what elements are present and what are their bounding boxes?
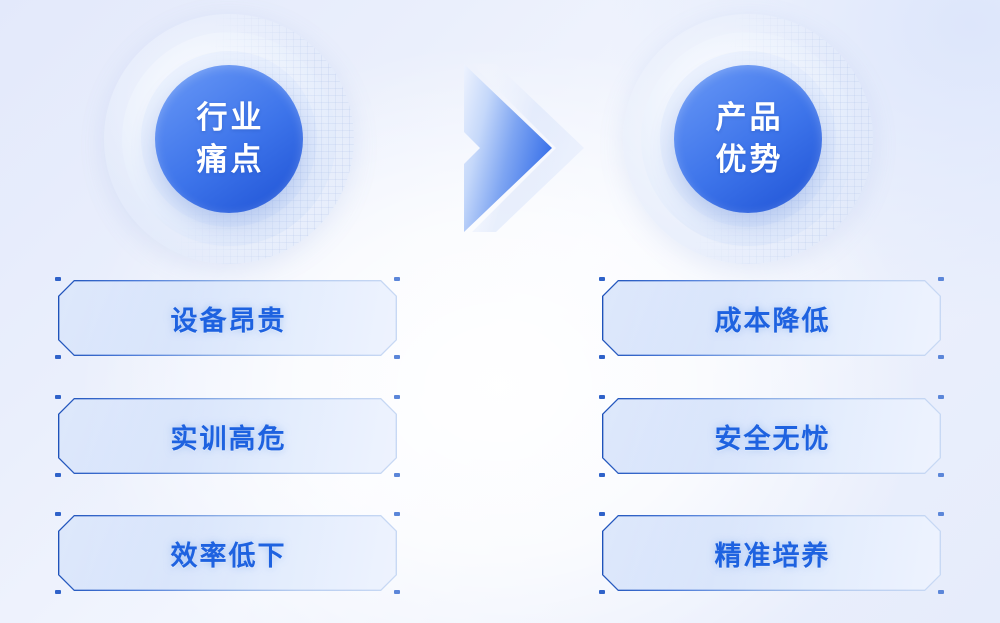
corner-marker-bottom-right [938, 590, 944, 594]
corner-marker-bottom-left [599, 355, 605, 359]
card-label: 实训高危 [169, 417, 287, 456]
corner-marker-top-right [394, 395, 400, 399]
pain-point-card[interactable]: 设备昂贵 [58, 280, 397, 356]
advantage-card[interactable]: 成本降低 [602, 280, 941, 356]
card-label: 效率低下 [169, 534, 287, 573]
circle-core-right: 产品 优势 [674, 65, 822, 213]
corner-marker-top-left [55, 395, 61, 399]
circle-title-line-1: 行业 [194, 97, 265, 139]
industry-pain-points-circle[interactable]: 行业 痛点 [104, 14, 354, 264]
corner-marker-top-right [938, 277, 944, 281]
corner-marker-top-left [599, 395, 605, 399]
corner-marker-top-left [599, 277, 605, 281]
corner-marker-top-left [55, 512, 61, 516]
corner-marker-bottom-right [394, 355, 400, 359]
corner-marker-bottom-right [938, 355, 944, 359]
corner-marker-bottom-right [394, 473, 400, 477]
infographic-canvas: 行业 痛点 [0, 0, 1000, 623]
corner-marker-top-right [394, 512, 400, 516]
corner-marker-bottom-right [938, 473, 944, 477]
advantage-card[interactable]: 安全无忧 [602, 398, 941, 474]
pain-point-card[interactable]: 效率低下 [58, 515, 397, 591]
corner-marker-bottom-left [55, 355, 61, 359]
corner-marker-bottom-right [394, 590, 400, 594]
corner-marker-bottom-left [599, 473, 605, 477]
card-label: 精准培养 [713, 534, 831, 573]
circle-core-left: 行业 痛点 [155, 65, 303, 213]
circle-title-line-2: 优势 [713, 139, 784, 181]
double-chevron-right-icon [452, 56, 600, 240]
pain-point-card[interactable]: 实训高危 [58, 398, 397, 474]
card-label: 成本降低 [713, 299, 831, 338]
circle-title-line-2: 痛点 [194, 139, 265, 181]
corner-marker-bottom-left [55, 473, 61, 477]
corner-marker-bottom-left [599, 590, 605, 594]
corner-marker-top-right [394, 277, 400, 281]
card-label: 安全无忧 [713, 417, 831, 456]
corner-marker-top-left [55, 277, 61, 281]
card-label: 设备昂贵 [169, 299, 287, 338]
advantage-card[interactable]: 精准培养 [602, 515, 941, 591]
corner-marker-top-right [938, 395, 944, 399]
circle-title-line-1: 产品 [713, 97, 784, 139]
corner-marker-top-left [599, 512, 605, 516]
product-advantages-circle[interactable]: 产品 优势 [623, 14, 873, 264]
corner-marker-top-right [938, 512, 944, 516]
corner-marker-bottom-left [55, 590, 61, 594]
